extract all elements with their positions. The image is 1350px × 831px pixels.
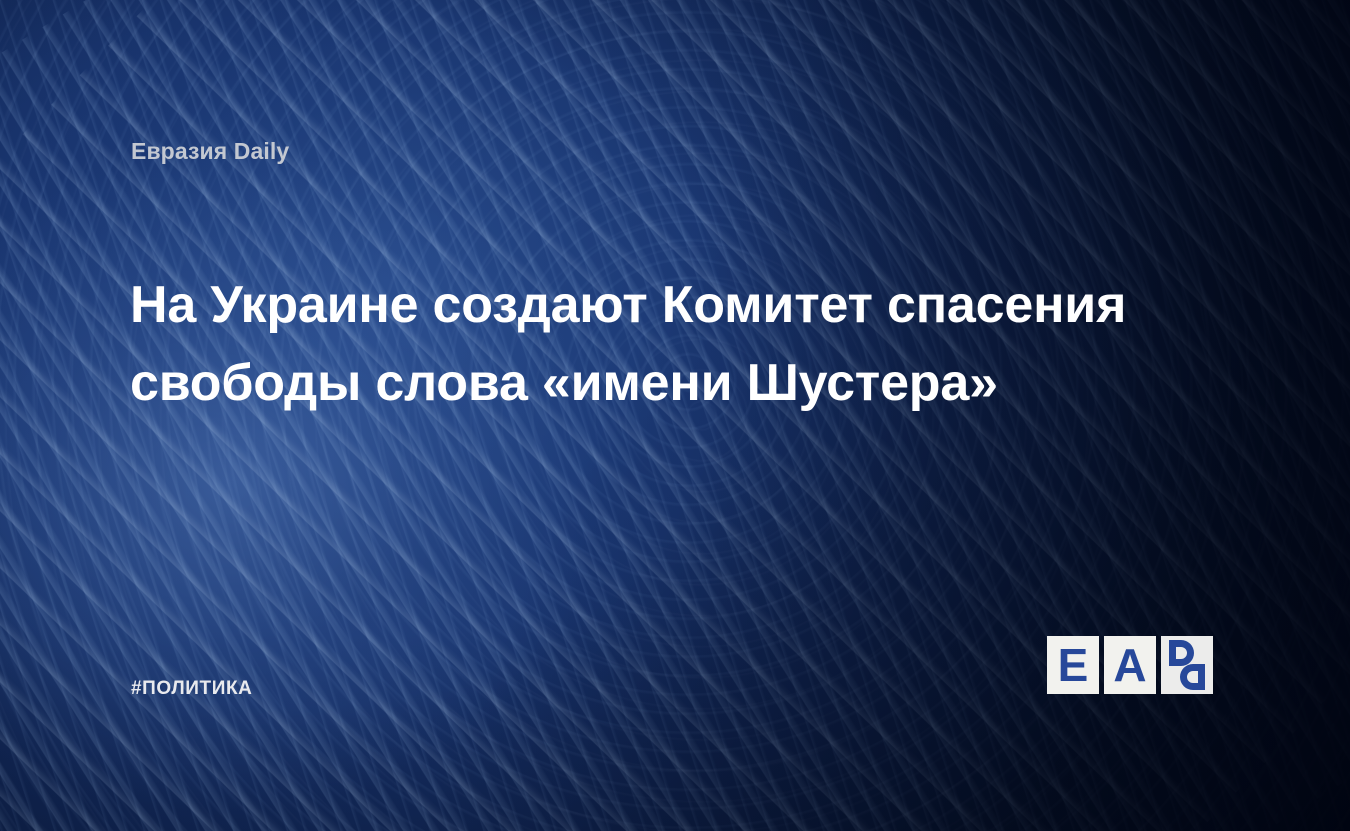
logo-letter-a: A (1113, 642, 1146, 688)
eadaily-logo[interactable]: E A (1047, 636, 1213, 694)
category-tag: #ПОЛИТИКА (131, 678, 253, 700)
ead-d-mark-icon (1161, 636, 1213, 694)
logo-tile-d (1161, 636, 1213, 694)
brand-title: Евразия Daily (131, 138, 289, 165)
page-title: На Украине создают Комитет спасения своб… (130, 266, 1205, 422)
news-card: Евразия Daily На Украине создают Комитет… (0, 0, 1350, 831)
logo-tile-a: A (1104, 636, 1156, 694)
logo-letter-e: E (1058, 642, 1089, 688)
card-content: Евразия Daily На Украине создают Комитет… (0, 0, 1350, 831)
logo-tile-e: E (1047, 636, 1099, 694)
